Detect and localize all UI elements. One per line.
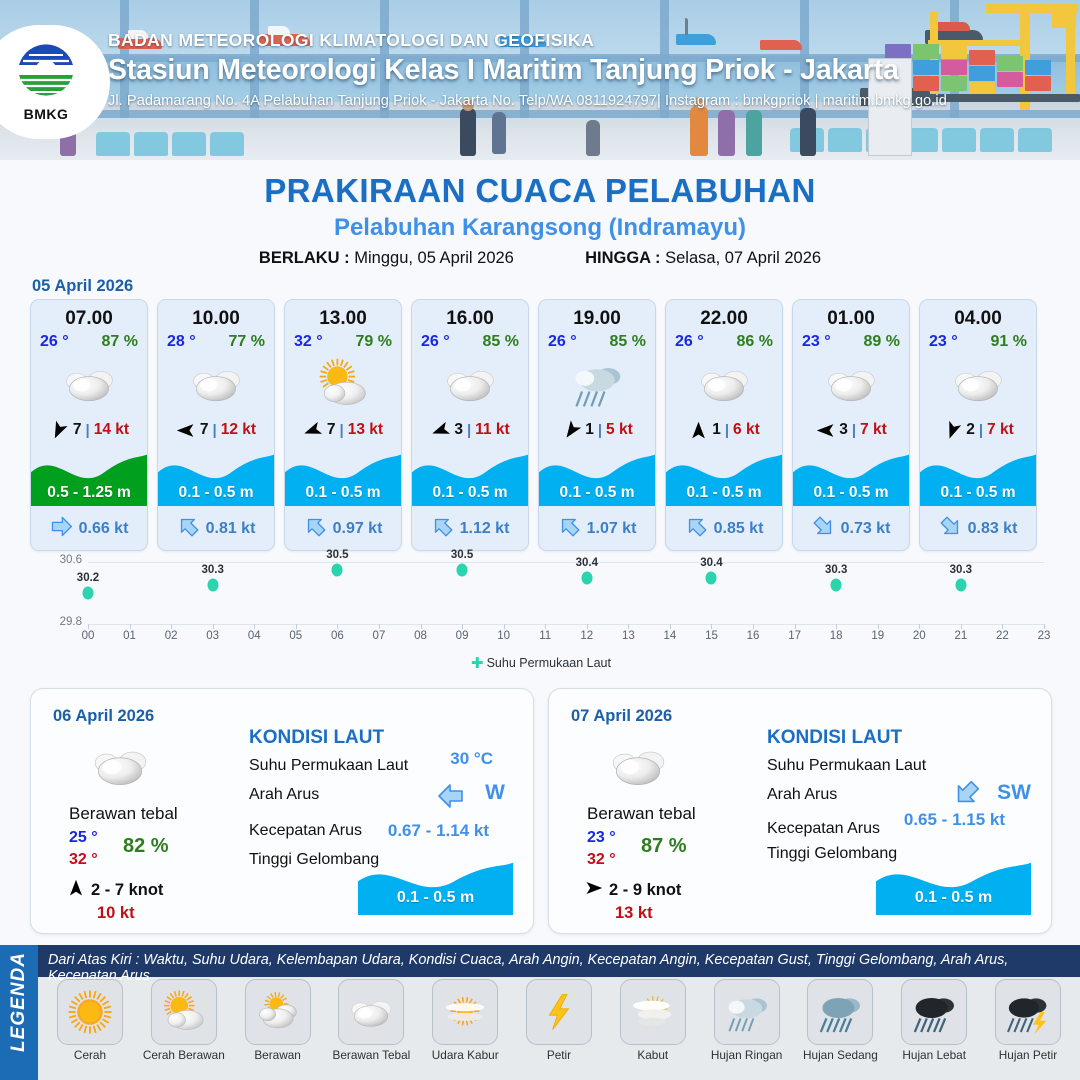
chart-x-tick-label: 04 — [248, 630, 261, 642]
card-humidity: 79 % — [356, 333, 392, 351]
legend-item: Cerah — [44, 979, 136, 1062]
card-current-speed: 1.12 kt — [460, 520, 510, 538]
sst-label: Suhu Permukaan Laut — [767, 757, 926, 775]
contact-line: Jl. Padamarang No. 4A Pelabuhan Tanjung … — [108, 93, 947, 109]
hujan-petir-icon — [995, 979, 1061, 1045]
chart-x-tick — [961, 624, 962, 629]
card-wind-row: 3 | 7 kt — [793, 415, 909, 445]
chart-x-tick — [670, 624, 671, 629]
chart-point-label: 30.3 — [201, 564, 223, 576]
card-temperature: 26 ° — [40, 333, 69, 351]
legend-item-list: Cerah Cerah Berawan Berawan — [38, 979, 1080, 1062]
card-wind-speed: 7 — [200, 421, 209, 439]
card-current-speed: 0.81 kt — [206, 520, 256, 538]
station-name: Stasiun Meteorologi Kelas I Maritim Tanj… — [108, 54, 947, 87]
chart-x-tick-label: 15 — [705, 630, 718, 642]
chart-y-tick-label: 29.8 — [38, 616, 82, 628]
cerah-berawan-icon — [285, 355, 401, 413]
current-speed-label: Kecepatan Arus — [767, 820, 880, 838]
chart-data-point — [207, 579, 218, 592]
chart-x-tick-label: 03 — [206, 630, 219, 642]
chart-y-tick-label: 30.6 — [38, 554, 82, 566]
berawan-tebal-icon — [31, 355, 147, 413]
chart-x-tick-label: 02 — [165, 630, 178, 642]
chart-data-point — [83, 587, 94, 600]
chart-x-tick-label: 16 — [747, 630, 760, 642]
card-humidity: 89 % — [864, 333, 900, 351]
chart-gridline — [88, 562, 1044, 563]
current-direction-arrow-icon — [437, 782, 465, 815]
chart-x-tick-label: 18 — [830, 630, 843, 642]
chart-x-tick-label: 20 — [913, 630, 926, 642]
legend-item-label: Udara Kabur — [419, 1048, 511, 1062]
legend-item-label: Cerah Berawan — [138, 1048, 230, 1062]
chart-x-tick-label: 17 — [788, 630, 801, 642]
card-temp-humidity-row: 26 ° 86 % — [666, 330, 782, 351]
chart-legend-label: Suhu Permukaan Laut — [487, 656, 611, 670]
hujan-lebat-icon — [901, 979, 967, 1045]
card-temp-humidity-row: 23 ° 89 % — [793, 330, 909, 351]
chart-x-tick-label: 22 — [996, 630, 1009, 642]
current-dir-label: Arah Arus — [249, 786, 319, 804]
card-separator: | — [725, 422, 729, 439]
daily-temp-min: 25 ° — [69, 829, 98, 847]
bmkg-logo: BMKG — [0, 25, 110, 139]
current-direction-arrow-icon — [953, 779, 981, 812]
legend-item: Cerah Berawan — [138, 979, 230, 1062]
forecast-card: 10.00 28 ° 77 % 7 | 12 kt 0.1 - 0.5 m 0.… — [157, 299, 275, 551]
legend-item-label: Hujan Petir — [982, 1048, 1074, 1062]
daily-date: 07 April 2026 — [571, 707, 672, 726]
legend-item-label: Cerah — [44, 1048, 136, 1062]
chart-point-label: 30.2 — [77, 572, 99, 584]
forecast-card: 13.00 32 ° 79 % 7 | 13 kt 0.1 - 0.5 m 0.… — [284, 299, 402, 551]
chart-x-tick — [171, 624, 172, 629]
card-wind-row: 1 | 6 kt — [666, 415, 782, 445]
card-separator: | — [86, 422, 90, 439]
card-temperature: 32 ° — [294, 333, 323, 351]
wind-direction-arrow-icon — [303, 421, 323, 439]
card-wind-row: 7 | 13 kt — [285, 415, 401, 445]
card-wind-speed: 7 — [327, 421, 336, 439]
card-current-row: 0.66 kt — [31, 514, 147, 544]
daily-humidity: 87 % — [641, 835, 687, 858]
berawan-tebal-icon — [412, 355, 528, 413]
card-gust-speed: 14 kt — [94, 421, 129, 439]
berawan-tebal-icon — [89, 735, 151, 802]
card-gust-speed: 11 kt — [475, 421, 509, 439]
legend-item: Petir — [513, 979, 605, 1062]
legend-item-label: Hujan Ringan — [701, 1048, 793, 1062]
berawan-tebal-icon — [666, 355, 782, 413]
wind-direction-arrow-icon — [688, 421, 708, 439]
legend-item-label: Hujan Lebat — [888, 1048, 980, 1062]
card-time: 13.00 — [285, 308, 401, 330]
kabut-icon — [620, 979, 686, 1045]
current-direction-arrow-icon — [939, 515, 962, 543]
bmkg-emblem-icon — [15, 43, 77, 105]
cerah-berawan-icon — [151, 979, 217, 1045]
card-separator: | — [852, 422, 856, 439]
hujan-ringan-icon — [539, 355, 655, 413]
wind-direction-arrow-icon — [67, 879, 85, 902]
card-temp-humidity-row: 26 ° 85 % — [412, 330, 528, 351]
chart-point-label: 30.3 — [825, 564, 847, 576]
card-wave-height: 0.1 - 0.5 m — [158, 484, 274, 502]
cerah-icon — [57, 979, 123, 1045]
valid-label: BERLAKU : — [259, 249, 350, 267]
page-title: PRAKIRAAN CUACA PELABUHAN — [0, 172, 1080, 210]
daily-temp-max: 32 ° — [69, 851, 98, 869]
sea-conditions-title: KONDISI LAUT — [249, 727, 384, 749]
daily-gust: 13 kt — [615, 904, 653, 923]
current-dir-value: SW — [997, 781, 1031, 805]
daily-summary-card: 06 April 2026 Berawan tebal 25 ° 32 ° 82… — [30, 688, 534, 934]
chart-x-tick — [88, 624, 89, 629]
card-temp-humidity-row: 26 ° 87 % — [31, 330, 147, 351]
card-temperature: 23 ° — [802, 333, 831, 351]
card-wind-row: 7 | 12 kt — [158, 415, 274, 445]
legend-item: Hujan Sedang — [794, 979, 886, 1062]
chart-x-axis: 0001020304050607080910111213141516171819… — [88, 624, 1044, 648]
card-wave-height: 0.1 - 0.5 m — [285, 484, 401, 502]
daily-summary-list: 06 April 2026 Berawan tebal 25 ° 32 ° 82… — [30, 688, 1052, 934]
daily-gust: 10 kt — [97, 904, 135, 923]
daily-wave-height: 0.1 - 0.5 m — [358, 889, 513, 907]
chart-x-tick — [919, 624, 920, 629]
current-direction-arrow-icon — [50, 515, 73, 543]
card-temperature: 26 ° — [548, 333, 577, 351]
card-wind-speed: 1 — [712, 421, 721, 439]
card-temp-humidity-row: 28 ° 77 % — [158, 330, 274, 351]
berawan-tebal-icon — [607, 735, 669, 802]
chart-x-tick-label: 10 — [497, 630, 510, 642]
chart-x-tick-label: 21 — [954, 630, 967, 642]
daily-wind-row: 2 - 9 knot — [585, 879, 681, 902]
chart-x-tick-label: 06 — [331, 630, 344, 642]
forecast-card: 16.00 26 ° 85 % 3 | 11 kt 0.1 - 0.5 m 1.… — [411, 299, 529, 551]
legend-item-label: Hujan Sedang — [794, 1048, 886, 1062]
chart-legend-marker-icon: ✚ — [471, 654, 484, 672]
current-direction-arrow-icon — [812, 515, 835, 543]
chart-x-tick-label: 00 — [82, 630, 95, 642]
berawan-tebal-icon — [920, 355, 1036, 413]
card-temp-humidity-row: 32 ° 79 % — [285, 330, 401, 351]
card-humidity: 86 % — [737, 333, 773, 351]
chart-x-tick — [337, 624, 338, 629]
chart-x-tick-label: 19 — [871, 630, 884, 642]
card-wind-speed: 3 — [454, 421, 463, 439]
wind-direction-arrow-icon — [49, 421, 69, 439]
chart-point-label: 30.3 — [950, 564, 972, 576]
berawan-tebal-icon — [158, 355, 274, 413]
until-value: Selasa, 07 April 2026 — [665, 249, 821, 267]
card-wind-speed: 1 — [585, 421, 594, 439]
card-current-speed: 0.83 kt — [968, 520, 1018, 538]
card-wind-row: 1 | 5 kt — [539, 415, 655, 445]
chart-x-tick — [462, 624, 463, 629]
chart-legend: ✚Suhu Permukaan Laut — [30, 654, 1052, 672]
daily-humidity: 82 % — [123, 835, 169, 858]
card-current-row: 0.85 kt — [666, 514, 782, 544]
card-time: 16.00 — [412, 308, 528, 330]
card-current-row: 0.73 kt — [793, 514, 909, 544]
card-time: 19.00 — [539, 308, 655, 330]
legend-sidebar-title: LEGENDA — [8, 945, 30, 1059]
card-current-row: 0.81 kt — [158, 514, 274, 544]
hujan-sedang-icon — [807, 979, 873, 1045]
forecast-card: 04.00 23 ° 91 % 2 | 7 kt 0.1 - 0.5 m 0.8… — [919, 299, 1037, 551]
card-temp-humidity-row: 26 ° 85 % — [539, 330, 655, 351]
forecast-card: 22.00 26 ° 86 % 1 | 6 kt 0.1 - 0.5 m 0.8… — [665, 299, 783, 551]
daily-temp-min: 23 ° — [587, 829, 616, 847]
card-gust-speed: 7 kt — [860, 421, 887, 439]
current-speed-value: 0.67 - 1.14 kt — [388, 821, 489, 841]
chart-x-tick-label: 08 — [414, 630, 427, 642]
card-humidity: 77 % — [229, 333, 265, 351]
chart-x-tick — [878, 624, 879, 629]
chart-x-tick — [795, 624, 796, 629]
sst-value: 30 °C — [450, 749, 493, 769]
card-wave-height: 0.5 - 1.25 m — [31, 484, 147, 502]
banner-text-block: BADAN METEOROLOGI KLIMATOLOGI DAN GEOFIS… — [108, 30, 947, 109]
card-temperature: 26 ° — [675, 333, 704, 351]
chart-data-point — [955, 579, 966, 592]
chart-point-label: 30.4 — [700, 557, 722, 569]
card-separator: | — [598, 422, 602, 439]
chart-x-tick — [628, 624, 629, 629]
chart-x-tick — [504, 624, 505, 629]
card-separator: | — [340, 422, 344, 439]
sea-conditions-title: KONDISI LAUT — [767, 727, 902, 749]
card-wave-height: 0.1 - 0.5 m — [666, 484, 782, 502]
card-gust-speed: 7 kt — [987, 421, 1014, 439]
chart-data-point — [581, 571, 592, 584]
forecast-card: 19.00 26 ° 85 % 1 | 5 kt 0.1 - 0.5 m 1.0… — [538, 299, 656, 551]
chart-x-tick-label: 12 — [580, 630, 593, 642]
berawan-tebal-icon — [338, 979, 404, 1045]
daily-summary-card: 07 April 2026 Berawan tebal 23 ° 32 ° 87… — [548, 688, 1052, 934]
card-temp-humidity-row: 23 ° 91 % — [920, 330, 1036, 351]
legend-item: Udara Kabur — [419, 979, 511, 1062]
wind-direction-arrow-icon — [561, 421, 581, 439]
card-current-row: 0.83 kt — [920, 514, 1036, 544]
chart-x-tick-label: 05 — [289, 630, 302, 642]
card-current-speed: 0.73 kt — [841, 520, 891, 538]
chart-x-tick — [379, 624, 380, 629]
card-current-row: 0.97 kt — [285, 514, 401, 544]
card-current-speed: 0.66 kt — [79, 520, 129, 538]
chart-data-point — [332, 563, 343, 576]
legend-item-label: Kabut — [607, 1048, 699, 1062]
legend-section: LEGENDA Dari Atas Kiri : Waktu, Suhu Uda… — [0, 945, 1080, 1080]
card-temperature: 23 ° — [929, 333, 958, 351]
card-current-row: 1.07 kt — [539, 514, 655, 544]
card-time: 01.00 — [793, 308, 909, 330]
chart-x-tick — [254, 624, 255, 629]
chart-data-point — [457, 563, 468, 576]
hujan-ringan-icon — [714, 979, 780, 1045]
daily-wind-range: 2 - 9 knot — [609, 881, 681, 900]
card-wave-height: 0.1 - 0.5 m — [539, 484, 655, 502]
wind-direction-arrow-icon — [430, 421, 450, 439]
chart-x-tick-label: 14 — [664, 630, 677, 642]
card-wave-height: 0.1 - 0.5 m — [793, 484, 909, 502]
page-title-block: PRAKIRAAN CUACA PELABUHAN Pelabuhan Kara… — [0, 160, 1080, 268]
current-direction-arrow-icon — [685, 515, 708, 543]
card-wind-row: 3 | 11 kt — [412, 415, 528, 445]
chart-x-tick — [711, 624, 712, 629]
sst-chart: 29.830.630.230.330.530.530.430.430.330.3… — [30, 558, 1052, 678]
current-speed-label: Kecepatan Arus — [249, 822, 362, 840]
card-wind-speed: 3 — [839, 421, 848, 439]
chart-x-tick — [1002, 624, 1003, 629]
chart-x-tick — [421, 624, 422, 629]
valid-value: Minggu, 05 April 2026 — [354, 249, 514, 267]
card-current-speed: 1.07 kt — [587, 520, 637, 538]
card-time: 07.00 — [31, 308, 147, 330]
chart-x-tick — [836, 624, 837, 629]
sst-label: Suhu Permukaan Laut — [249, 757, 408, 775]
card-wave-height: 0.1 - 0.5 m — [412, 484, 528, 502]
card-humidity: 85 % — [610, 333, 646, 351]
card-wave-height: 0.1 - 0.5 m — [920, 484, 1036, 502]
forecast-card: 07.00 26 ° 87 % 7 | 14 kt 0.5 - 1.25 m 0… — [30, 299, 148, 551]
card-temperature: 26 ° — [421, 333, 450, 351]
card-time: 10.00 — [158, 308, 274, 330]
legend-item-label: Petir — [513, 1048, 605, 1062]
chart-x-tick — [753, 624, 754, 629]
chart-x-tick-label: 13 — [622, 630, 635, 642]
current-dir-label: Arah Arus — [767, 786, 837, 804]
until-label: HINGGA : — [585, 249, 660, 267]
card-wind-speed: 2 — [966, 421, 975, 439]
chart-data-point — [706, 571, 717, 584]
chart-data-point — [831, 579, 842, 592]
chart-x-tick-label: 23 — [1038, 630, 1051, 642]
berawan-icon — [245, 979, 311, 1045]
bmkg-logo-text: BMKG — [24, 106, 69, 122]
card-humidity: 87 % — [102, 333, 138, 351]
chart-x-tick — [1044, 624, 1045, 629]
daily-condition: Berawan tebal — [69, 804, 178, 824]
current-speed-value: 0.65 - 1.15 kt — [904, 810, 1005, 830]
legend-item: Berawan — [232, 979, 324, 1062]
card-gust-speed: 12 kt — [221, 421, 256, 439]
daily-condition: Berawan tebal — [587, 804, 696, 824]
card-gust-speed: 13 kt — [348, 421, 383, 439]
wind-direction-arrow-icon — [585, 879, 603, 902]
chart-x-tick-label: 07 — [373, 630, 386, 642]
chart-x-tick — [587, 624, 588, 629]
card-separator: | — [213, 422, 217, 439]
daily-wind-range: 2 - 7 knot — [91, 881, 163, 900]
legend-item-label: Berawan — [232, 1048, 324, 1062]
current-dir-value: W — [485, 781, 505, 805]
card-humidity: 91 % — [991, 333, 1027, 351]
chart-x-tick — [296, 624, 297, 629]
legend-item: Hujan Ringan — [701, 979, 793, 1062]
wind-direction-arrow-icon — [815, 421, 835, 439]
current-direction-arrow-icon — [558, 515, 581, 543]
card-temperature: 28 ° — [167, 333, 196, 351]
page-subtitle: Pelabuhan Karangsong (Indramayu) — [0, 214, 1080, 242]
card-separator: | — [979, 422, 983, 439]
current-direction-arrow-icon — [177, 515, 200, 543]
chart-x-tick — [545, 624, 546, 629]
chart-x-tick — [213, 624, 214, 629]
legend-item-label: Berawan Tebal — [325, 1048, 417, 1062]
daily-date: 06 April 2026 — [53, 707, 154, 726]
daily-temp-max: 32 ° — [587, 851, 616, 869]
header-banner: BMKG BADAN METEOROLOGI KLIMATOLOGI DAN G… — [0, 0, 1080, 160]
wind-direction-arrow-icon — [176, 421, 196, 439]
wind-direction-arrow-icon — [942, 421, 962, 439]
chart-point-label: 30.5 — [451, 549, 473, 561]
card-humidity: 85 % — [483, 333, 519, 351]
card-gust-speed: 5 kt — [606, 421, 633, 439]
daily-wave-height: 0.1 - 0.5 m — [876, 889, 1031, 907]
chart-plot-area: 29.830.630.230.330.530.530.430.430.330.3 — [88, 562, 1044, 624]
current-direction-arrow-icon — [304, 515, 327, 543]
chart-x-tick — [130, 624, 131, 629]
chart-x-tick-label: 11 — [539, 630, 551, 642]
card-current-speed: 0.85 kt — [714, 520, 764, 538]
card-time: 04.00 — [920, 308, 1036, 330]
card-wind-speed: 7 — [73, 421, 82, 439]
forecast-card-list: 07.00 26 ° 87 % 7 | 14 kt 0.5 - 1.25 m 0… — [30, 299, 1052, 551]
forecast-date-label: 05 April 2026 — [32, 277, 133, 296]
chart-point-label: 30.4 — [576, 557, 598, 569]
forecast-card: 01.00 23 ° 89 % 3 | 7 kt 0.1 - 0.5 m 0.7… — [792, 299, 910, 551]
legend-note-bar: Dari Atas Kiri : Waktu, Suhu Udara, Kele… — [38, 945, 1080, 977]
card-current-row: 1.12 kt — [412, 514, 528, 544]
legend-item: Kabut — [607, 979, 699, 1062]
chart-x-tick-label: 01 — [123, 630, 136, 642]
petir-icon — [526, 979, 592, 1045]
agency-name: BADAN METEOROLOGI KLIMATOLOGI DAN GEOFIS… — [108, 30, 947, 51]
legend-item: Hujan Lebat — [888, 979, 980, 1062]
berawan-tebal-icon — [793, 355, 909, 413]
legend-item: Berawan Tebal — [325, 979, 417, 1062]
card-wind-row: 7 | 14 kt — [31, 415, 147, 445]
card-gust-speed: 6 kt — [733, 421, 760, 439]
chart-point-label: 30.5 — [326, 549, 348, 561]
card-separator: | — [467, 422, 471, 439]
chart-x-tick-label: 09 — [456, 630, 469, 642]
card-current-speed: 0.97 kt — [333, 520, 383, 538]
legend-item: Hujan Petir — [982, 979, 1074, 1062]
legend-sidebar: LEGENDA — [0, 945, 38, 1080]
card-wind-row: 2 | 7 kt — [920, 415, 1036, 445]
current-direction-arrow-icon — [431, 515, 454, 543]
daily-wind-row: 2 - 7 knot — [67, 879, 163, 902]
udara-kabur-icon — [432, 979, 498, 1045]
card-time: 22.00 — [666, 308, 782, 330]
validity-row: BERLAKU : Minggu, 05 April 2026 HINGGA :… — [0, 249, 1080, 268]
